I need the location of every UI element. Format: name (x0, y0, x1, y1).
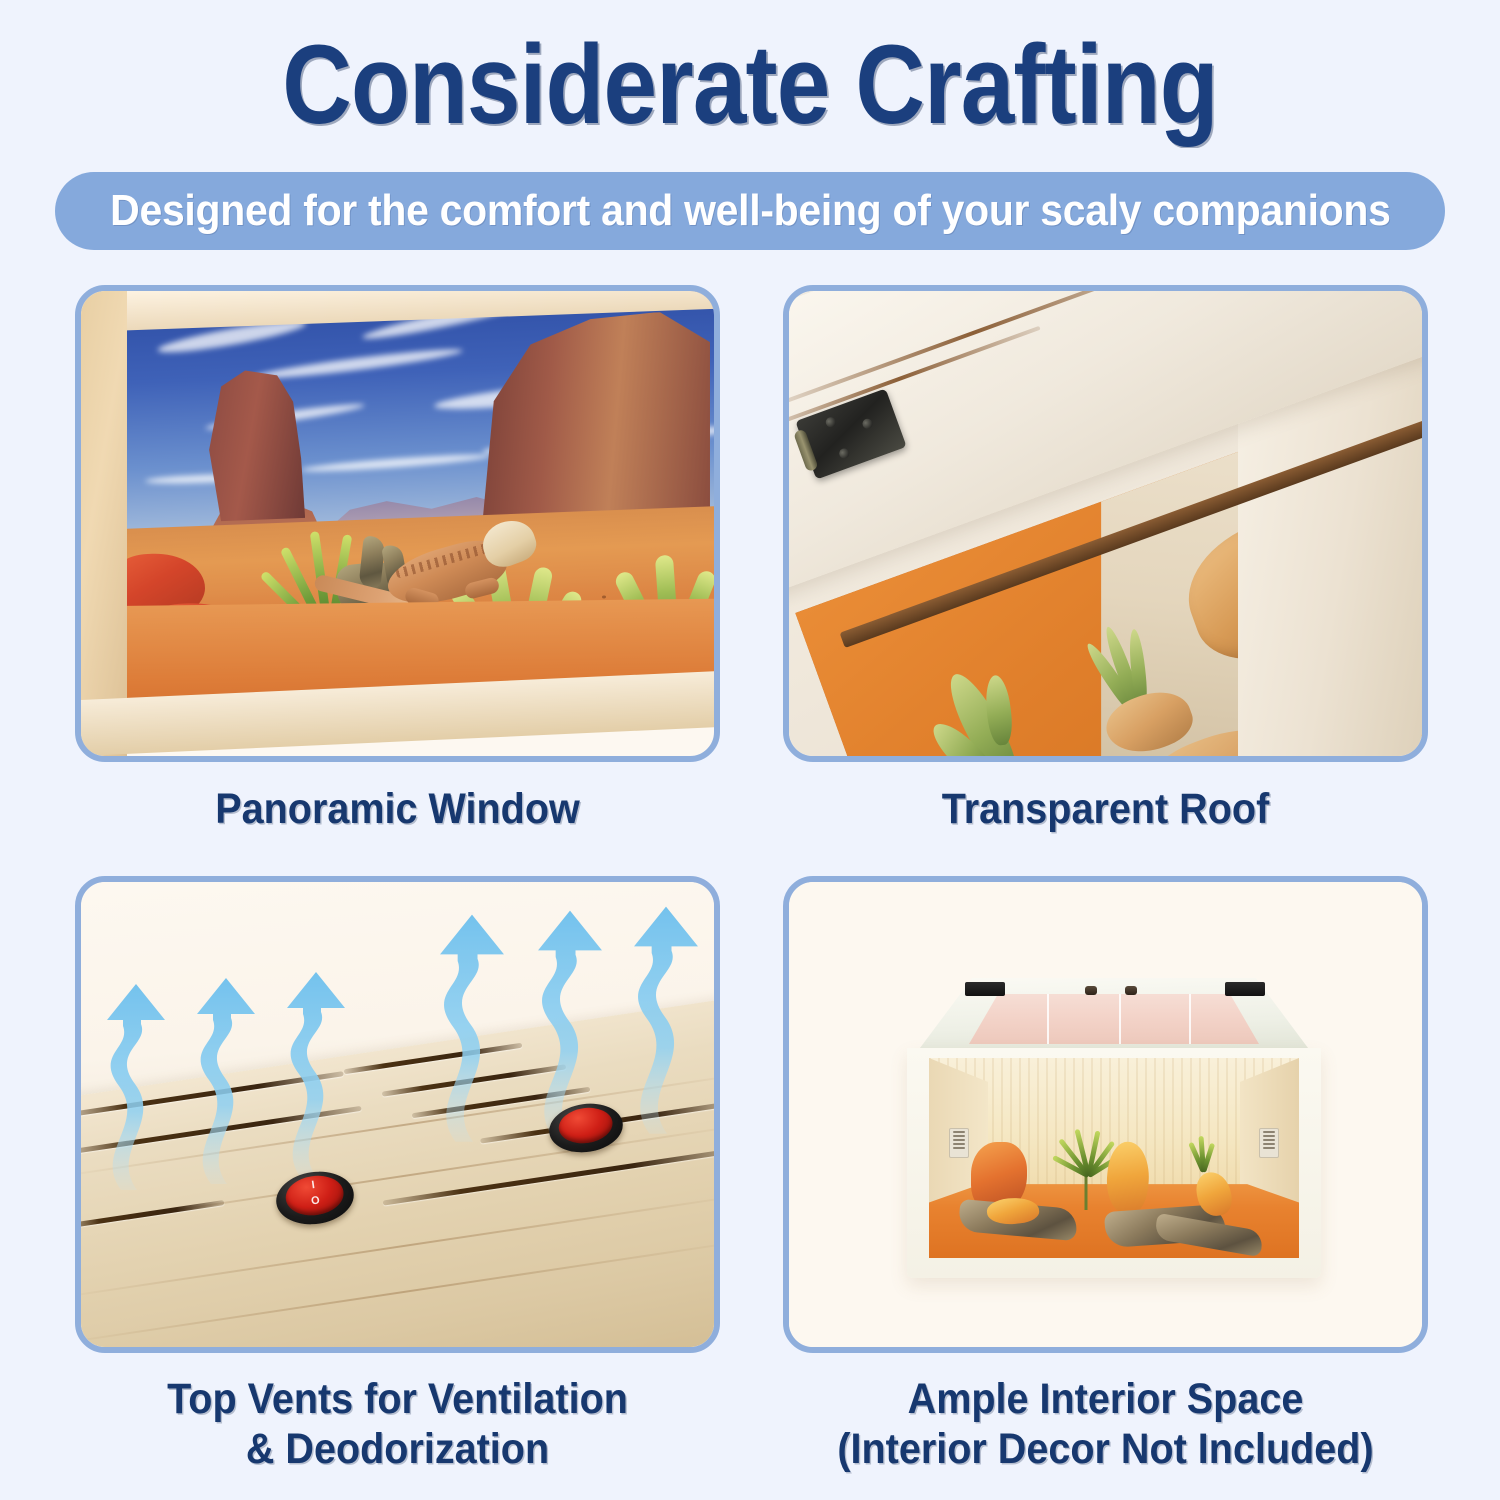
rocker-switch[interactable] (546, 1099, 626, 1157)
roof-panel-divider (1189, 994, 1191, 1044)
enclosure-interior (929, 1058, 1299, 1258)
ample-interior-scene (789, 882, 1422, 1347)
subtitle-text: Designed for the comfort and well-being … (110, 186, 1390, 236)
airflow-arrow (277, 968, 355, 1178)
panel-transparent-roof (783, 285, 1428, 762)
rocker-switch[interactable]: I O (273, 1167, 357, 1229)
roof-vent (1225, 982, 1265, 996)
roof-panel-divider (1047, 994, 1049, 1044)
caption-line: Transparent Roof (809, 784, 1402, 834)
caption-line: (Interior Decor Not Included) (790, 1424, 1420, 1474)
caption-transparent-roof: Transparent Roof (809, 784, 1402, 834)
airflow-arrow (187, 974, 265, 1184)
transparent-roof-scene (789, 291, 1422, 756)
roof-knob (1125, 986, 1137, 995)
terrarium-enclosure (907, 978, 1321, 1278)
caption-line: & Deodorization (82, 1424, 712, 1474)
grass-tuft (1181, 1164, 1221, 1206)
window-glass (121, 285, 720, 734)
airflow-arrow (429, 908, 515, 1144)
infographic-page: Considerate Crafting Designed for the co… (0, 0, 1500, 1500)
side-vent (1259, 1128, 1279, 1158)
airflow-arrow (97, 980, 175, 1190)
roof-vent (965, 982, 1005, 996)
transparent-roof-panel (969, 994, 1259, 1044)
caption-top-vents: Top Vents for Ventilation & Deodorizatio… (82, 1374, 712, 1474)
window-frame-left (81, 291, 127, 756)
caption-line: Ample Interior Space (790, 1374, 1420, 1424)
switch-on-mark: I (311, 1180, 316, 1191)
caption-line: Panoramic Window (101, 784, 694, 834)
panel-ample-interior (783, 876, 1428, 1353)
fern-plant (870, 757, 979, 762)
roof-panel-divider (1119, 994, 1121, 1044)
caption-line: Top Vents for Ventilation (82, 1374, 712, 1424)
enclosure-body (907, 1048, 1321, 1278)
caption-ample-interior: Ample Interior Space (Interior Decor Not… (790, 1374, 1420, 1474)
caption-panoramic-window: Panoramic Window (101, 784, 694, 834)
top-vents-scene: I O (81, 882, 714, 1347)
page-title: Considerate Crafting (105, 26, 1395, 144)
switch-off-mark: O (310, 1196, 320, 1208)
panoramic-window-scene (81, 291, 714, 756)
subtitle-banner: Designed for the comfort and well-being … (55, 172, 1445, 250)
side-vent (949, 1128, 969, 1158)
roof-knob (1085, 986, 1097, 995)
panel-top-vents: I O (75, 876, 720, 1353)
panel-panoramic-window (75, 285, 720, 762)
airflow-arrow (623, 900, 709, 1136)
